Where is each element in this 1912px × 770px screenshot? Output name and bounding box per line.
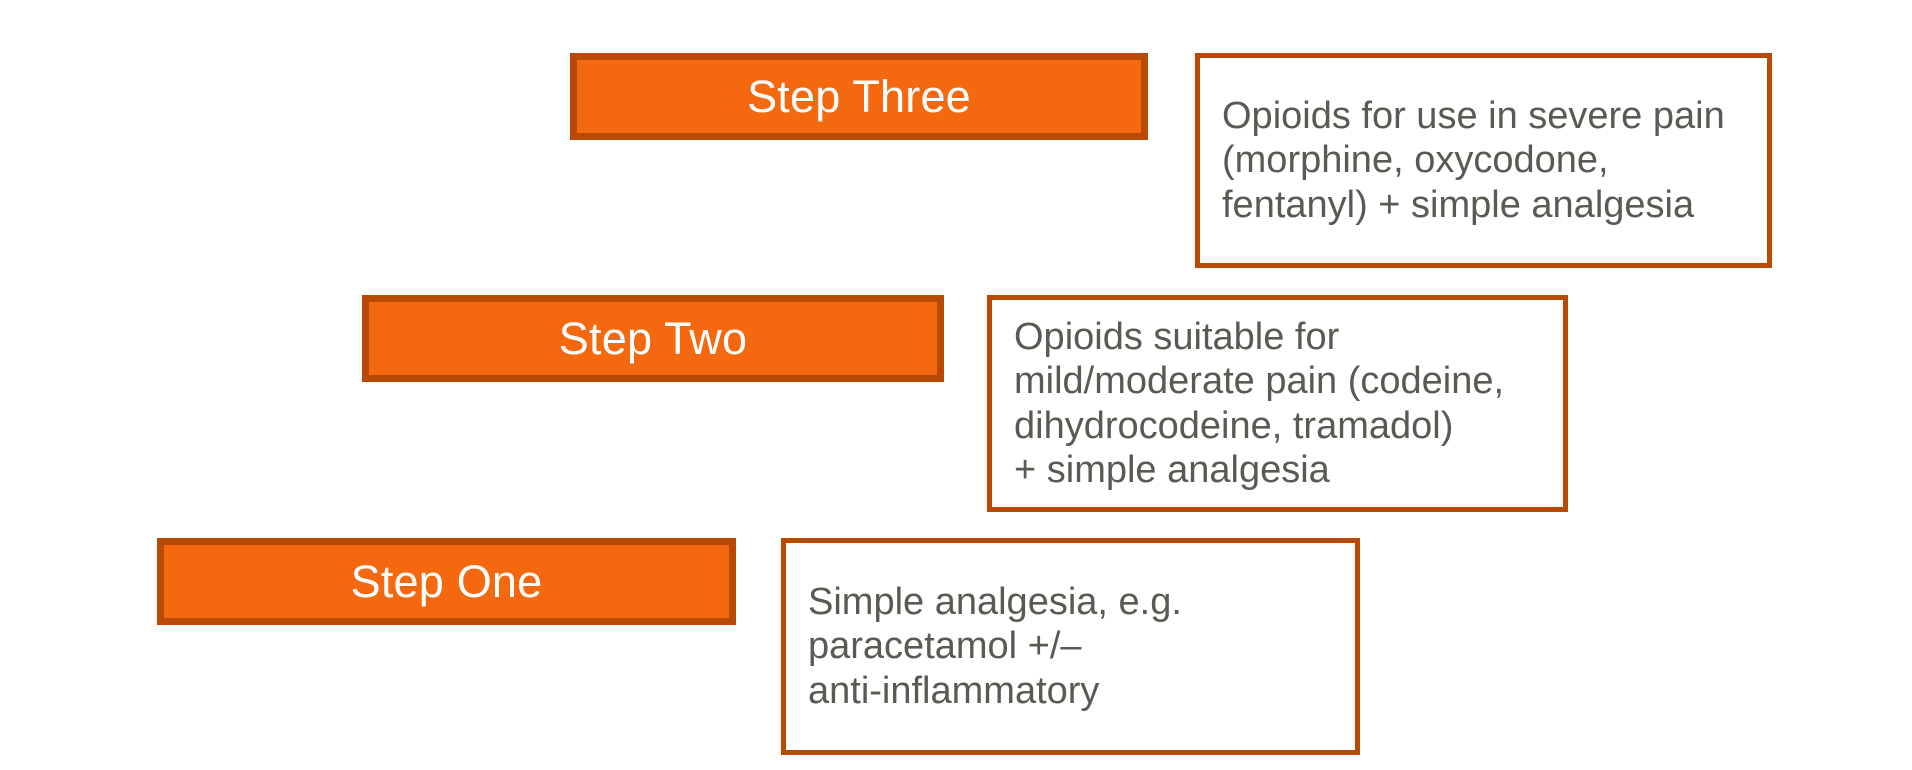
- description-box-step-three: Opioids for use in severe pain (morphine…: [1195, 53, 1772, 268]
- step-bar-label-step-one: Step One: [351, 559, 543, 604]
- analgesic-ladder-diagram: Step Three Opioids for use in severe pai…: [0, 0, 1912, 770]
- step-bar-label-step-two: Step Two: [559, 316, 747, 361]
- step-bar-step-two[interactable]: Step Two: [362, 295, 944, 382]
- description-text-step-two: Opioids suitable for mild/moderate pain …: [992, 315, 1563, 493]
- description-text-step-one: Simple analgesia, e.g. paracetamol +/– a…: [786, 580, 1355, 713]
- description-text-step-three: Opioids for use in severe pain (morphine…: [1200, 94, 1767, 227]
- step-bar-step-three[interactable]: Step Three: [570, 53, 1148, 140]
- step-bar-label-step-three: Step Three: [747, 74, 971, 119]
- step-bar-step-one[interactable]: Step One: [157, 538, 736, 625]
- description-box-step-one: Simple analgesia, e.g. paracetamol +/– a…: [781, 538, 1360, 755]
- description-box-step-two: Opioids suitable for mild/moderate pain …: [987, 295, 1568, 512]
